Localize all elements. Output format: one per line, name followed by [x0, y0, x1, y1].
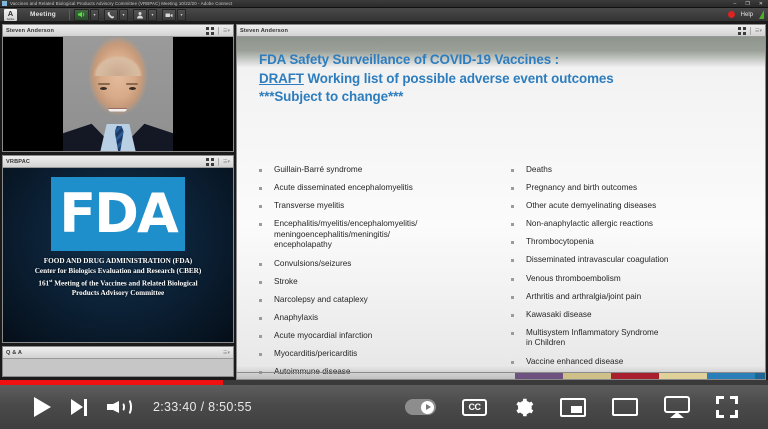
phone-dropdown-caret-icon[interactable]: ▾ [119, 9, 128, 21]
pod-menu-icon[interactable]: ☰▾ [223, 28, 230, 34]
vrbpac-pod-header: VRBPAC ☰▾ [3, 156, 233, 168]
headshot-hair [93, 55, 144, 76]
slide-bullet: Arthritis and arthralgia/joint pain [511, 292, 753, 303]
minimize-button[interactable]: – [734, 0, 737, 8]
headshot-eye-left [100, 87, 107, 90]
phone-icon[interactable] [104, 9, 118, 21]
slide-bullet-text: Pregnancy and birth outcomes [526, 183, 637, 194]
bullet-column-left: Guillain-Barré syndromeAcute disseminate… [259, 165, 501, 379]
slide-bullet-line: Anaphylaxis [274, 313, 318, 324]
slide-bullet-text: Acute disseminated encephalomyelitis [274, 183, 413, 194]
footer-strip-block [755, 373, 765, 379]
time-display: 2:33:40 / 8:50:55 [153, 400, 252, 414]
slide-bullet: Venous thromboembolism [511, 274, 753, 285]
slide-bullet-line: Encephalitis/myelitis/encephalomyelitis/ [274, 219, 417, 230]
video-player-controls: 2:33:40 / 8:50:55 CC [0, 385, 768, 429]
bullet-marker-icon [511, 223, 514, 226]
speaker-headshot [63, 37, 173, 151]
footer-strip-block [611, 373, 659, 379]
slide-bullet-area: Guillain-Barré syndromeAcute disseminate… [259, 165, 753, 379]
fullscreen-icon[interactable] [716, 396, 738, 418]
fda-logo: FDA [51, 177, 185, 251]
slide-bullet-line: Thrombocytopenia [526, 237, 594, 248]
adobe-connect-logo-icon: A Adobe [4, 9, 17, 21]
webcam-pod: Steven Anderson ☰▾ [2, 24, 234, 152]
phone-tool-group: ▾ [104, 9, 128, 21]
screen: Vaccines and Related Biological Products… [0, 0, 768, 429]
slide-bullet-line: Kawasaki disease [526, 310, 592, 321]
person-tool-group: ▾ [133, 9, 157, 21]
slide-bullet-line: in Children [526, 338, 658, 349]
slide-bullet-text: Thrombocytopenia [526, 237, 594, 248]
slide-bullet: Thrombocytopenia [511, 237, 753, 248]
adobe-connect-icon [2, 1, 7, 6]
slide-bullet: Myocarditis/pericarditis [259, 349, 501, 360]
vrbpac-pod-title: VRBPAC [6, 159, 30, 165]
slide-bullet: Guillain-Barré syndrome [259, 165, 501, 176]
headshot-brow-right [126, 83, 138, 85]
qa-pod: Q & A ☰▾ [2, 346, 234, 377]
slide-title-line1: FDA Safety Surveillance of COVID-19 Vacc… [259, 51, 749, 70]
fullscreen-icon[interactable] [738, 27, 746, 35]
slide-bullet-text: Multisystem Inflammatory Syndromein Chil… [526, 328, 658, 349]
slide-bullet-line: Transverse myelitis [274, 201, 344, 212]
slide-bullet: Acute disseminated encephalomyelitis [259, 183, 501, 194]
slide-bullet: Acute myocardial infarction [259, 331, 501, 342]
webcam-icon[interactable] [162, 9, 176, 21]
slide-bullet-line: Acute myocardial infarction [274, 331, 372, 342]
footer-strip-block [707, 373, 755, 379]
cast-icon[interactable] [664, 396, 690, 418]
bullet-marker-icon [259, 317, 262, 320]
fullscreen-icon[interactable] [206, 158, 214, 166]
meeting-number: 161 [38, 280, 49, 288]
close-button[interactable]: ✕ [759, 0, 763, 8]
slide-title-line2-rest: Working list of possible adverse event o… [304, 71, 614, 86]
connection-bars-icon[interactable] [759, 10, 764, 19]
slide-title-draft: DRAFT [259, 71, 304, 86]
bullet-marker-icon [259, 187, 262, 190]
bullet-marker-icon [511, 187, 514, 190]
slide-bullet-text: Stroke [274, 277, 298, 288]
webcam-dropdown-caret-icon[interactable]: ▾ [177, 9, 186, 21]
share-pod: Steven Anderson ☰▾ FDA Safety Surveillan… [236, 24, 766, 380]
slide-bullet-line: meningoencephalitis/meningitis/ [274, 230, 417, 241]
slide-title: FDA Safety Surveillance of COVID-19 Vacc… [259, 51, 749, 107]
bullet-marker-icon [259, 205, 262, 208]
share-pod-header: Steven Anderson ☰▾ [237, 25, 765, 37]
slide-bullet-text: Arthritis and arthralgia/joint pain [526, 292, 641, 303]
person-icon[interactable] [133, 9, 147, 21]
window-title: Vaccines and Related Biological Products… [10, 0, 734, 8]
slide-bullet-line: Pregnancy and birth outcomes [526, 183, 637, 194]
meeting-number-rest: Meeting of the Vaccines and Related Biol… [52, 280, 197, 288]
bullet-marker-icon [511, 314, 514, 317]
slide-bullet-line: encepholapathy [274, 240, 417, 251]
window-controls: – ❐ ✕ [734, 0, 768, 8]
bullet-marker-icon [511, 241, 514, 244]
bullet-marker-icon [511, 296, 514, 299]
speaker-dropdown-caret-icon[interactable]: ▾ [90, 9, 99, 21]
speaker-icon[interactable] [74, 9, 89, 21]
webcam-pod-header-controls: ☰▾ [206, 27, 230, 35]
slide-title-line2: DRAFT Working list of possible adverse e… [259, 70, 749, 89]
fda-caption-line2: Center for Biologics Evaluation and Rese… [35, 267, 202, 277]
slide-bullet: Transverse myelitis [259, 201, 501, 212]
bullet-marker-icon [259, 169, 262, 172]
fda-caption-line3: 161st Meeting of the Vaccines and Relate… [35, 276, 202, 289]
person-dropdown-caret-icon[interactable]: ▾ [148, 9, 157, 21]
slide-bullet-line: Convulsions/seizures [274, 259, 351, 270]
footer-strip-block [515, 373, 563, 379]
fullscreen-icon[interactable] [206, 27, 214, 35]
autoplay-toggle[interactable] [405, 399, 436, 415]
slide-bullet: Multisystem Inflammatory Syndromein Chil… [511, 328, 753, 349]
slide-bullet-text: Venous thromboembolism [526, 274, 621, 285]
qa-pod-header: Q & A ☰▾ [3, 347, 233, 359]
slide-bullet-line: Disseminated intravascular coagulation [526, 255, 668, 266]
pod-menu-icon[interactable]: ☰▾ [223, 350, 230, 356]
slide-bullet: Pregnancy and birth outcomes [511, 183, 753, 194]
slide-bullet-text: Disseminated intravascular coagulation [526, 255, 668, 266]
slide-bullet-line: Vaccine enhanced disease [526, 357, 623, 368]
volume-icon[interactable] [107, 397, 133, 417]
share-pod-header-controls: ☰▾ [738, 27, 762, 35]
slide-bullet: Narcolepsy and cataplexy [259, 295, 501, 306]
qa-pod-header-controls: ☰▾ [223, 350, 230, 356]
bullet-marker-icon [511, 332, 514, 335]
vrbpac-pod-header-controls: ☰▾ [206, 158, 230, 166]
gear-icon[interactable] [513, 397, 534, 418]
bullet-marker-icon [511, 278, 514, 281]
slide-bullet-text: Other acute demyelinating diseases [526, 201, 656, 212]
slide-bullet-text: Transverse myelitis [274, 201, 344, 212]
header-divider [750, 27, 751, 35]
slide-bullet: Kawasaki disease [511, 310, 753, 321]
slide-bullet-text: Narcolepsy and cataplexy [274, 295, 368, 306]
logo-mark: A [8, 10, 13, 18]
webcam-pod-header: Steven Anderson ☰▾ [3, 25, 233, 37]
miniplayer-icon[interactable] [560, 398, 586, 417]
fda-title-slide[interactable]: FDA FOOD AND DRUG ADMINISTRATION (FDA) C… [3, 168, 233, 342]
footer-strip-block [563, 373, 611, 379]
slide-bullet-text: Kawasaki disease [526, 310, 592, 321]
menu-meeting[interactable]: Meeting [23, 9, 63, 20]
headshot-eye-right [129, 87, 136, 90]
slide-bullet-line: Venous thromboembolism [526, 274, 621, 285]
slide-title-line3: ***Subject to change*** [259, 88, 749, 107]
webcam-tool-group: ▾ [162, 9, 186, 21]
menubar-right-group: Help [728, 10, 768, 19]
help-link[interactable]: Help [741, 12, 753, 18]
header-divider [218, 27, 219, 35]
slide-bullet: Vaccine enhanced disease [511, 357, 753, 368]
webcam-pod-title: Steven Anderson [6, 28, 54, 34]
bullet-marker-icon [259, 299, 262, 302]
bullet-marker-icon [511, 205, 514, 208]
audio-tool-group: ▾ [74, 9, 99, 21]
play-icon[interactable] [34, 397, 51, 417]
slide-bullet-line: Non-anaphylactic allergic reactions [526, 219, 653, 230]
slide-bullet: Encephalitis/myelitis/encephalomyelitis/… [259, 219, 501, 251]
slide-bullet-line: Multisystem Inflammatory Syndrome [526, 328, 658, 339]
share-pod-title: Steven Anderson [240, 28, 288, 34]
slide-bullet-line: Acute disseminated encephalomyelitis [274, 183, 413, 194]
logo-sub: Adobe [7, 18, 14, 21]
slide-bullet-text: Myocarditis/pericarditis [274, 349, 357, 360]
slide-bullet-text: Non-anaphylactic allergic reactions [526, 219, 653, 230]
fda-logo-text: FDA [59, 187, 177, 241]
bullet-marker-icon [259, 353, 262, 356]
slide-bullet: Stroke [259, 277, 501, 288]
bullet-marker-icon [511, 169, 514, 172]
share-pod-body: FDA Safety Surveillance of COVID-19 Vacc… [237, 37, 765, 379]
player-right-controls: CC [405, 396, 768, 418]
slide-bullet: Convulsions/seizures [259, 259, 501, 270]
fda-caption-line4: Products Advisory Committee [35, 289, 202, 299]
maximize-button[interactable]: ❐ [745, 0, 749, 8]
pod-menu-icon[interactable]: ☰▾ [223, 159, 230, 165]
headshot-brow-left [98, 83, 110, 85]
qa-pod-body[interactable] [3, 359, 233, 376]
theater-mode-icon[interactable] [612, 398, 638, 416]
bullet-marker-icon [259, 281, 262, 284]
presentation-slide[interactable]: FDA Safety Surveillance of COVID-19 Vacc… [237, 37, 765, 379]
bullet-marker-icon [511, 259, 514, 262]
slide-bullet-line: Other acute demyelinating diseases [526, 201, 656, 212]
next-video-icon[interactable] [71, 399, 87, 416]
slide-bullet: Anaphylaxis [259, 313, 501, 324]
menubar-divider [69, 9, 70, 20]
slide-bullet: Disseminated intravascular coagulation [511, 255, 753, 266]
bullet-marker-icon [259, 263, 262, 266]
slide-bullet-line: Stroke [274, 277, 298, 288]
pod-menu-icon[interactable]: ☰▾ [755, 28, 762, 34]
slide-footer-color-strip [237, 373, 765, 379]
headshot-mouth [108, 108, 127, 112]
bullet-marker-icon [259, 335, 262, 338]
slide-bullet: Non-anaphylactic allergic reactions [511, 219, 753, 230]
slide-bullet: Other acute demyelinating diseases [511, 201, 753, 212]
slide-bullet-line: Myocarditis/pericarditis [274, 349, 357, 360]
slide-bullet-text: Guillain-Barré syndrome [274, 165, 362, 176]
bullet-marker-icon [259, 223, 262, 226]
recording-dot-icon[interactable] [728, 11, 735, 18]
footer-strip-block [659, 373, 707, 379]
fda-slide-caption: FOOD AND DRUG ADMINISTRATION (FDA) Cente… [35, 257, 202, 299]
vrbpac-pod-body: FDA FOOD AND DRUG ADMINISTRATION (FDA) C… [3, 168, 233, 342]
autoplay-toggle-knob [421, 401, 434, 414]
slide-bullet: Deaths [511, 165, 753, 176]
slide-bullet-line: Arthritis and arthralgia/joint pain [526, 292, 641, 303]
header-divider [218, 158, 219, 166]
fda-caption-line1: FOOD AND DRUG ADMINISTRATION (FDA) [35, 257, 202, 267]
slide-bullet-text: Encephalitis/myelitis/encephalomyelitis/… [274, 219, 417, 251]
player-left-controls: 2:33:40 / 8:50:55 [0, 397, 252, 417]
slide-bullet-line: Narcolepsy and cataplexy [274, 295, 368, 306]
window-titlebar: Vaccines and Related Biological Products… [0, 0, 768, 8]
captions-button[interactable]: CC [462, 399, 487, 416]
slide-bullet-text: Anaphylaxis [274, 313, 318, 324]
qa-pod-title: Q & A [6, 350, 22, 356]
slide-bullet-text: Deaths [526, 165, 552, 176]
webcam-video-stage[interactable] [3, 37, 233, 151]
webcam-pod-body [3, 37, 233, 151]
bullet-marker-icon [511, 361, 514, 364]
slide-bullet-text: Acute myocardial infarction [274, 331, 372, 342]
bullet-column-right: DeathsPregnancy and birth outcomesOther … [511, 165, 753, 379]
slide-bullet-text: Vaccine enhanced disease [526, 357, 623, 368]
slide-bullet-text: Convulsions/seizures [274, 259, 351, 270]
slide-bullet-line: Deaths [526, 165, 552, 176]
slide-bullet-line: Guillain-Barré syndrome [274, 165, 362, 176]
vrbpac-pod: VRBPAC ☰▾ FDA FOOD AND DRUG ADMINISTRATI… [2, 155, 234, 343]
adobe-connect-menubar: A Adobe Meeting ▾ ▾ ▾ ▾ [0, 8, 768, 22]
